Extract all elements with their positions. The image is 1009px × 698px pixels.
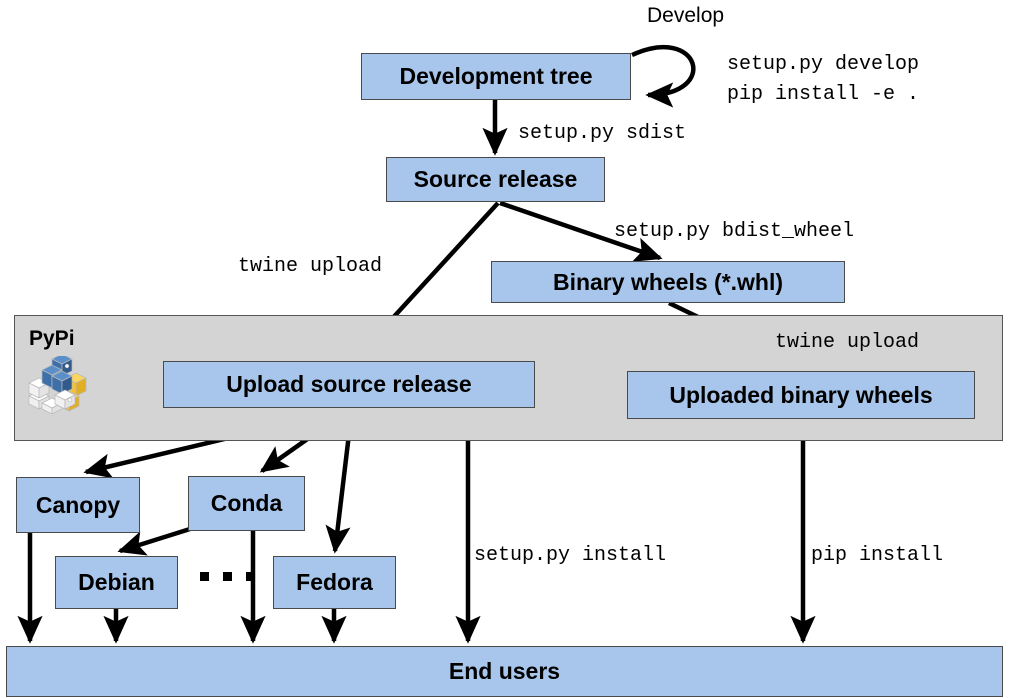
- node-upload-source-release[interactable]: Upload source release: [163, 361, 535, 408]
- node-debian[interactable]: Debian: [55, 556, 178, 609]
- pypi-python-cubes-logo: [26, 356, 88, 414]
- edge-label-setup-py-bdist-wheel: setup.py bdist_wheel: [614, 220, 854, 243]
- edge-label-develop: Develop: [647, 4, 724, 28]
- edge-label-pip-install-editable: pip install -e .: [727, 83, 919, 106]
- more-distributions-ellipsis-icon: [200, 572, 255, 581]
- edge-label-pip-install: pip install: [811, 544, 943, 567]
- node-binary-wheels[interactable]: Binary wheels (*.whl): [491, 261, 845, 303]
- node-conda[interactable]: Conda: [188, 476, 305, 531]
- edge-label-setup-py-sdist: setup.py sdist: [518, 122, 686, 145]
- node-source-release[interactable]: Source release: [386, 157, 605, 202]
- edge-label-setup-py-develop: setup.py develop: [727, 53, 919, 76]
- edge-label-twine-upload-source: twine upload: [238, 255, 382, 278]
- edge-develop-self-loop: [632, 47, 693, 95]
- edge-label-setup-py-install: setup.py install: [474, 544, 666, 567]
- node-fedora[interactable]: Fedora: [273, 556, 396, 609]
- node-uploaded-binary-wheels[interactable]: Uploaded binary wheels: [627, 371, 975, 419]
- edge-label-twine-upload-wheels: twine upload: [775, 331, 919, 354]
- node-end-users[interactable]: End users: [6, 646, 1003, 697]
- node-canopy[interactable]: Canopy: [16, 477, 140, 533]
- node-development-tree[interactable]: Development tree: [361, 53, 631, 100]
- pypi-group-title: PyPi: [29, 327, 75, 351]
- diagram-canvas: PyPi: [0, 0, 1009, 698]
